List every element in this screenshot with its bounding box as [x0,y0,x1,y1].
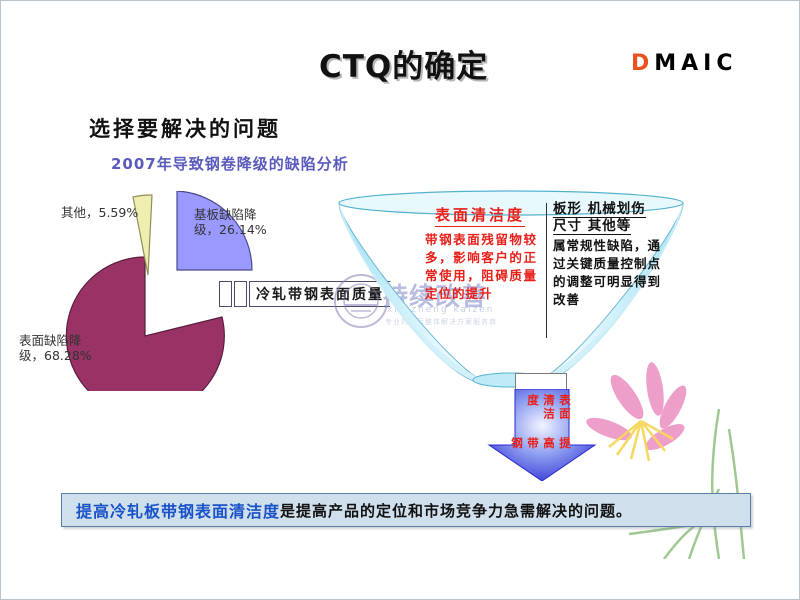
dmaic-label: DMAIC [631,51,738,76]
down-arrow-text: 提高带钢 表面清洁度 [509,394,573,464]
down-arrow-text-col1: 提高带钢 [509,437,573,464]
pie-label-surface-line1: 表面缺陷降 [19,333,82,348]
pie-label-other: 其他，5.59% [61,205,138,220]
pie-label-base: 基板缺陷降 级，26.14% [194,207,267,237]
pie-label-surface: 表面缺陷降 级，68.28% [19,333,92,363]
down-arrow-text-col2: 表面清洁度 [509,394,573,427]
funnel-right-body: 属常规性缺陷，通过关键质量控制点的调整可明显得到改善 [553,237,665,309]
funnel-right-heading-line1: 板形 机械划伤 [553,201,646,218]
pie-slice-surface [66,257,224,391]
conclusion-rest: 是提高产品的定位和市场竞争力急需解决的问题。 [280,500,632,521]
funnel-left-heading: 表面清洁度 [435,204,525,227]
arrow-box-cell-2 [234,281,247,307]
section-heading: 选择要解决的问题 [89,113,281,143]
funnel-right-heading-line2: 尺寸 其他等 [553,218,631,235]
page-title: CTQ的确定 [319,41,488,86]
conclusion-highlight: 提高冷轧板带钢表面清洁度 [76,498,280,522]
section-subheading: 2007年导致钢卷降级的缺陷分析 [111,153,349,174]
slide-canvas: CTQ的确定 DMAIC 选择要解决的问题 2007年导致钢卷降级的缺陷分析 其… [0,0,800,600]
funnel-right-heading: 板形 机械划伤 尺寸 其他等 [553,201,665,235]
pie-label-base-line1: 基板缺陷降 [194,207,257,222]
conclusion-banner: 提高冷轧板带钢表面清洁度是提高产品的定位和市场竞争力急需解决的问题。 [61,493,751,527]
dmaic-rest-letters: MAIC [654,51,737,76]
arrow-box-cell-1 [219,281,232,307]
funnel-left-body: 带钢表面残留物较多，影响客户的正常使用，阻碍质量定位的提升 [425,231,537,303]
dmaic-d-letter: D [631,51,654,76]
pie-label-base-line2: 级，26.14% [194,222,267,237]
funnel-divider [546,203,547,338]
pie-label-surface-line2: 级，68.28% [19,348,92,363]
